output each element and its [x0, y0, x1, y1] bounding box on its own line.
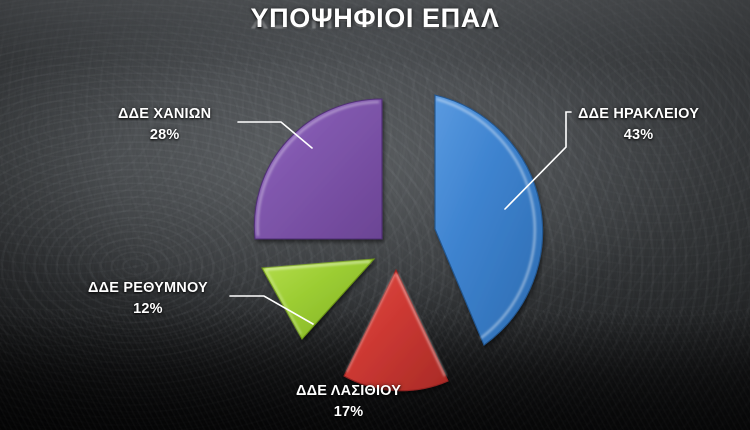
pie-slice-irakleiou[interactable]	[435, 95, 542, 345]
slice-label-chania-name: ΔΔΕ ΧΑΝΙΩΝ	[118, 104, 211, 125]
pie-slice-lasithiou[interactable]	[344, 270, 448, 391]
title-block: ΥΠΟΨΗΦΙΟΙ ΕΠΑΛ ΥΠΟΨΗΦΙΟΙ ΕΠΑΛ	[0, 4, 750, 62]
pie-chart	[0, 0, 750, 430]
slice-label-irakleiou-percent: 43%	[578, 125, 699, 146]
slice-label-lasithiou: ΔΔΕ ΛΑΣΙΘΙΟΥ 17%	[296, 381, 401, 423]
slice-label-rethymnou: ΔΔΕ ΡΕΘΥΜΝΟΥ 12%	[88, 278, 208, 320]
chart-canvas: ΥΠΟΨΗΦΙΟΙ ΕΠΑΛ ΥΠΟΨΗΦΙΟΙ ΕΠΑΛ	[0, 0, 750, 430]
pie-slice-chania[interactable]	[254, 99, 382, 239]
pie-slice-rethymnou[interactable]	[262, 259, 374, 339]
slice-label-rethymnou-percent: 12%	[88, 299, 208, 320]
slice-label-chania: ΔΔΕ ΧΑΝΙΩΝ 28%	[118, 104, 211, 146]
slice-label-lasithiou-percent: 17%	[296, 402, 401, 423]
slice-label-rethymnou-name: ΔΔΕ ΡΕΘΥΜΝΟΥ	[88, 278, 208, 299]
page-title: ΥΠΟΨΗΦΙΟΙ ΕΠΑΛ	[251, 4, 500, 32]
slice-label-irakleiou-name: ΔΔΕ ΗΡΑΚΛΕΙΟΥ	[578, 104, 699, 125]
slice-label-chania-percent: 28%	[118, 125, 211, 146]
slice-label-lasithiou-name: ΔΔΕ ΛΑΣΙΘΙΟΥ	[296, 381, 401, 402]
slice-label-irakleiou: ΔΔΕ ΗΡΑΚΛΕΙΟΥ 43%	[578, 104, 699, 146]
